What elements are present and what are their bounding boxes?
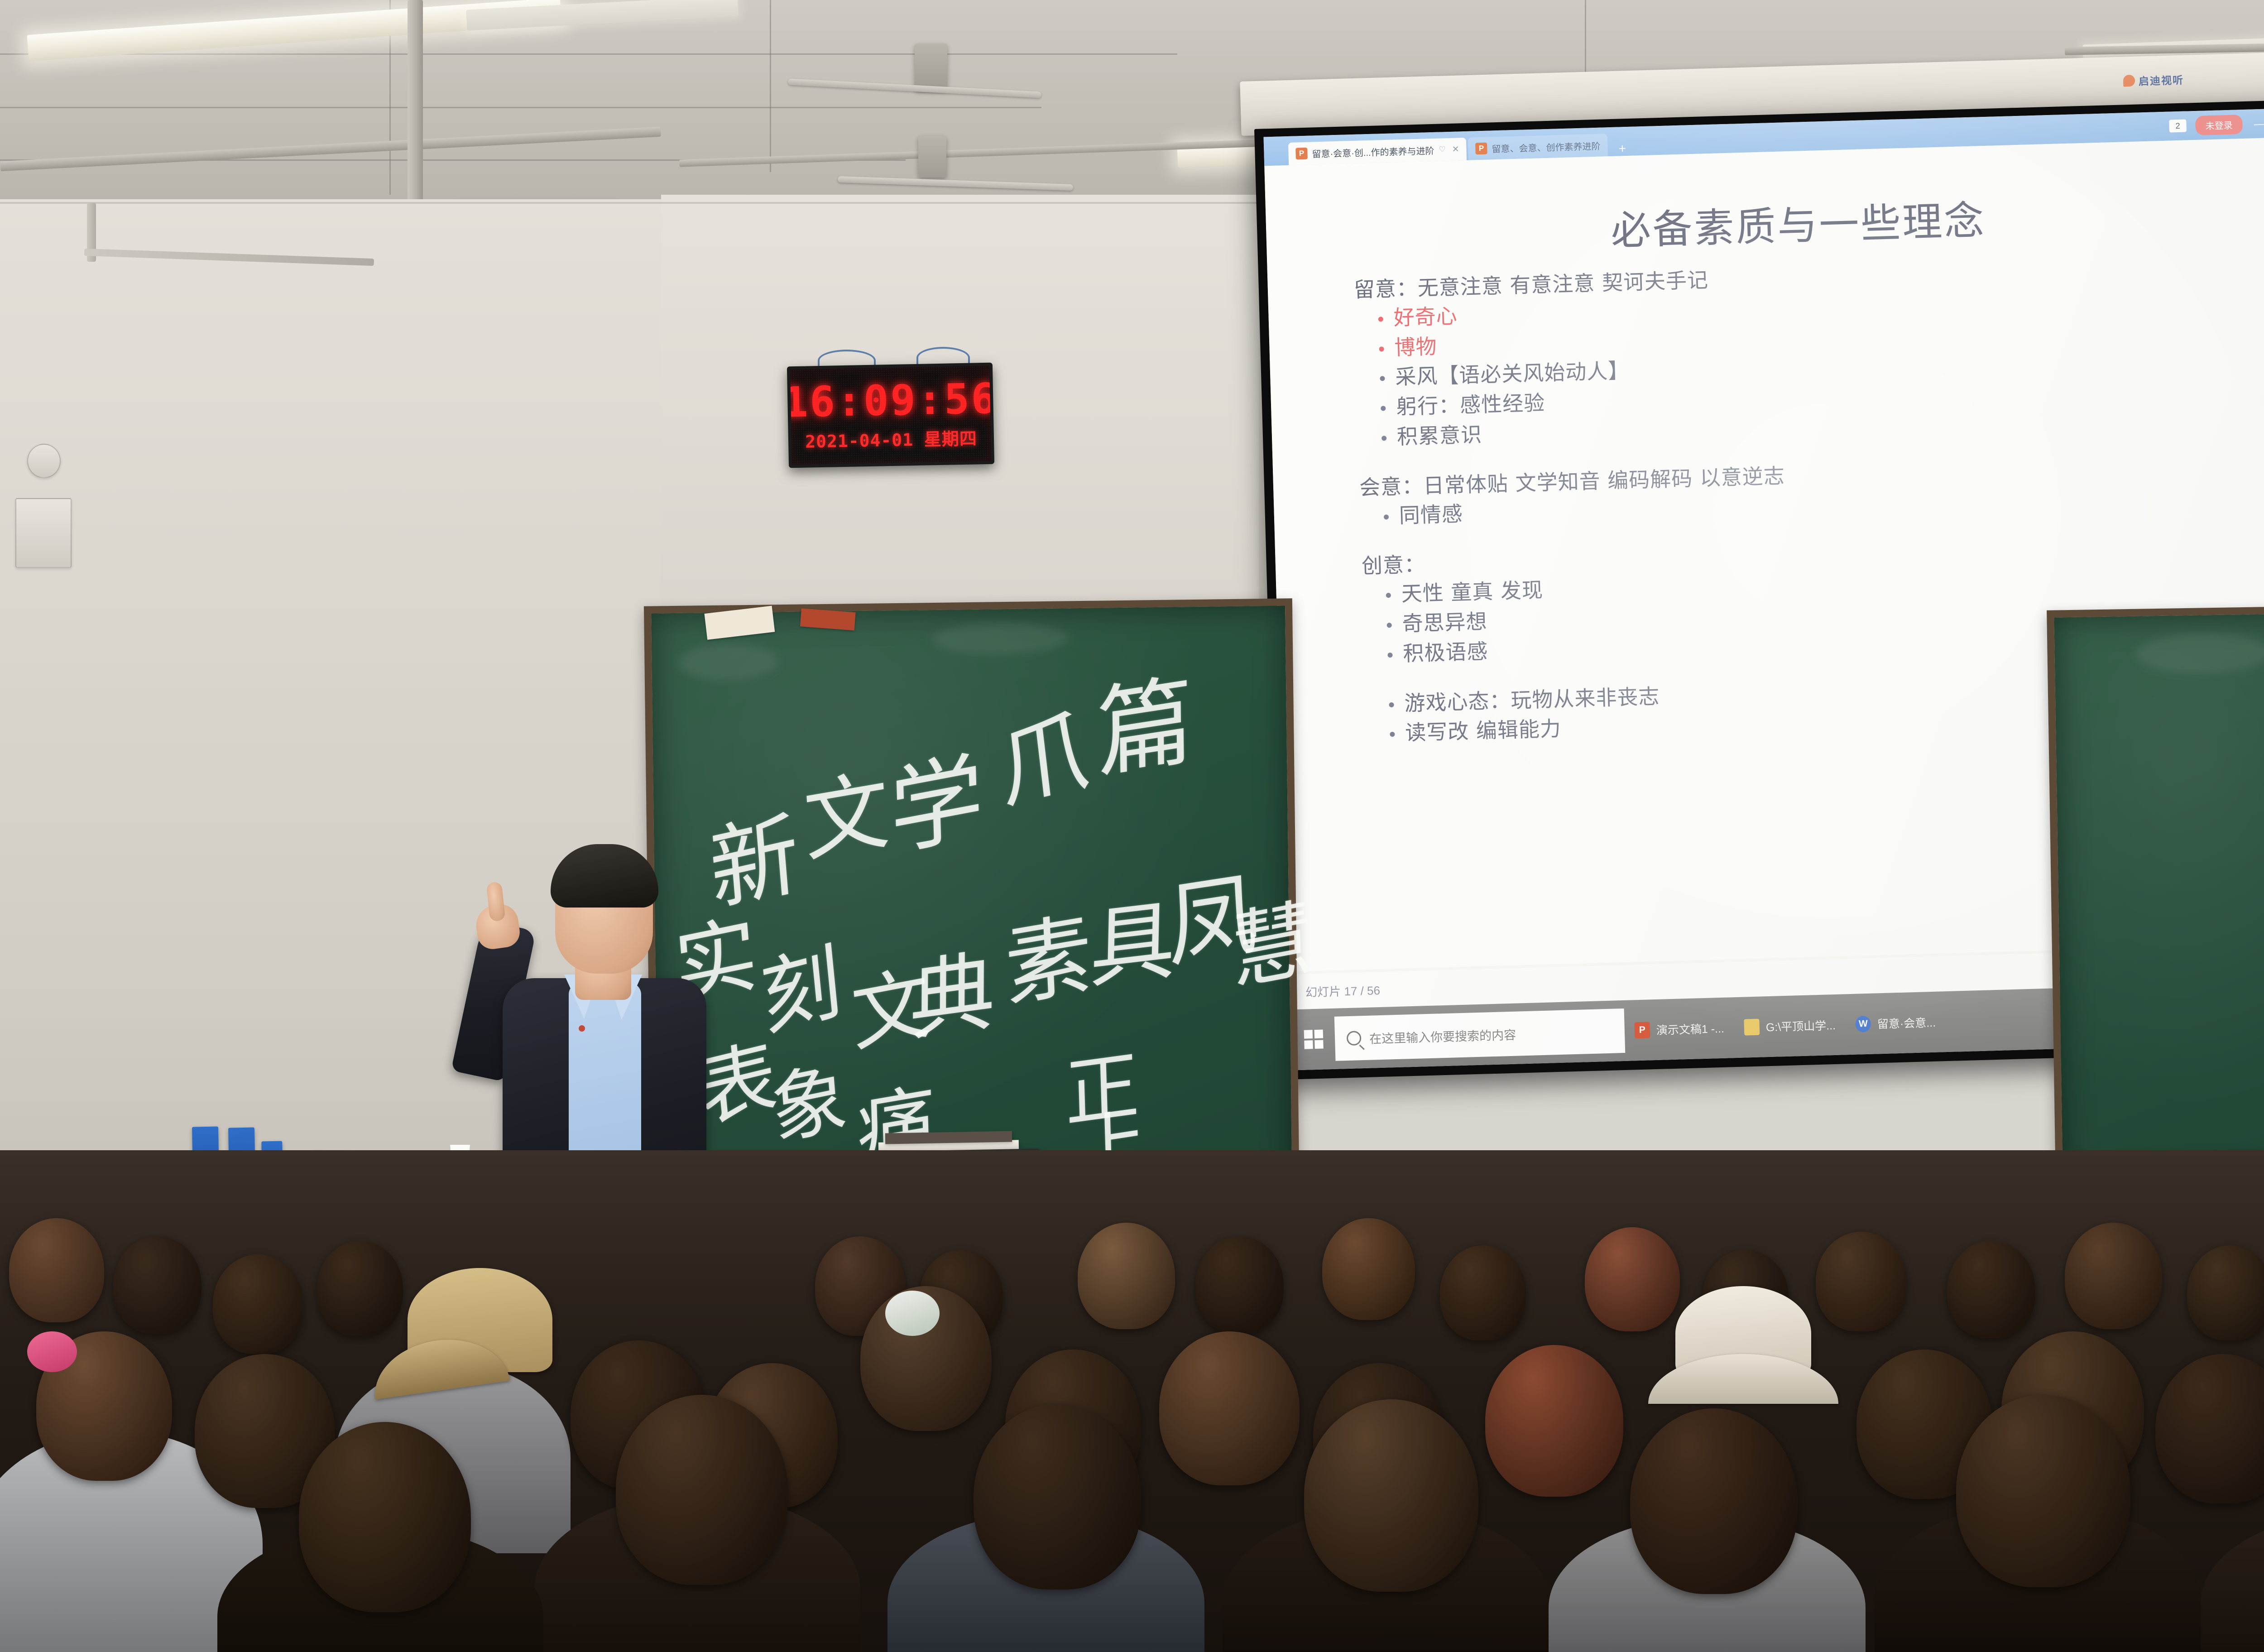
new-tab-button[interactable]: + xyxy=(1609,141,1635,157)
chalk-char: 篇 xyxy=(1096,640,1194,797)
audience-head xyxy=(1585,1227,1680,1331)
tab-label: 留意·会意·创...作的素养与进阶 xyxy=(1312,143,1434,160)
chalkboard-right xyxy=(2047,603,2264,1186)
slide-title: 必备素质与一些理念 xyxy=(1610,188,1986,256)
audience-head xyxy=(1159,1331,1300,1485)
powerpoint-icon: P xyxy=(1634,1022,1650,1038)
led-wall-clock: 16:09:56 2021-04-01 星期四 xyxy=(787,363,994,468)
taskbar-search-input[interactable]: 在这里输入你要搜索的内容 xyxy=(1334,1008,1625,1061)
brand-mark-icon xyxy=(2123,75,2135,87)
ceiling-tile-line xyxy=(0,53,1177,55)
audience-head xyxy=(1630,1408,1798,1594)
chalk-char: 典 xyxy=(909,920,995,1057)
ceiling-support-pole xyxy=(408,0,423,213)
audience-head xyxy=(299,1422,471,1612)
windows-start-icon[interactable] xyxy=(1304,1030,1324,1049)
chalk-char: 正 xyxy=(1063,1024,1141,1143)
screen-brand-logo: 启迪视听 xyxy=(2123,72,2184,89)
audience-head xyxy=(1485,1345,1623,1497)
audience-head xyxy=(1947,1241,2035,1338)
audience-head xyxy=(974,1404,1141,1590)
chalk-char: 象 xyxy=(767,1034,851,1161)
chalk-char: 刻 xyxy=(755,913,846,1053)
slide-counter: 幻灯片 17 / 56 xyxy=(1305,981,1381,1000)
wall-sensor xyxy=(27,444,61,478)
taskbar-item[interactable]: G:\平顶山学... xyxy=(1733,994,1847,1058)
board-taped-paper xyxy=(800,608,856,630)
audience-head xyxy=(1440,1245,1526,1340)
chalk-char: 素 xyxy=(1002,882,1095,1025)
wall-seam xyxy=(0,202,1268,204)
clock-date: 2021-04-01 星期四 xyxy=(805,424,978,452)
taskbar-item[interactable]: W 留意·会意... xyxy=(1845,991,1947,1055)
audience-head xyxy=(1816,1232,1906,1331)
clock-time: 16:09:56 xyxy=(787,378,994,423)
audience xyxy=(0,1150,2264,1652)
tab-inactive[interactable]: P 留意、会意、创作素养进阶 xyxy=(1468,134,1608,160)
audience-head xyxy=(1322,1218,1415,1320)
window-controls: 2 未登录 — ▢ ✕ xyxy=(2169,112,2264,136)
hair-scrunchie xyxy=(885,1291,940,1336)
board-taped-paper xyxy=(705,606,775,640)
chalk-char: 凤 xyxy=(1164,840,1260,985)
powerpoint-icon: P xyxy=(1475,143,1487,155)
audience-head xyxy=(1956,1395,2130,1587)
taskbar-item-label: 留意·会意... xyxy=(1877,1014,1936,1032)
ceiling-fan-mount xyxy=(918,136,946,178)
wps-icon: W xyxy=(1855,1016,1871,1032)
heart-icon[interactable]: ♡ xyxy=(1439,145,1446,154)
brand-text: 启迪视听 xyxy=(2139,72,2184,88)
login-status-button[interactable]: 未登录 xyxy=(2195,115,2243,135)
audience-head xyxy=(1304,1399,1478,1592)
chalk-smudge xyxy=(2136,632,2264,675)
audience-head xyxy=(1078,1223,1175,1329)
lapel-microphone xyxy=(579,1025,585,1032)
minimize-icon[interactable]: — xyxy=(2251,117,2264,130)
audience-head xyxy=(2187,1245,2264,1340)
chalk-char: 学 xyxy=(887,718,985,875)
classroom-photo: 16:09:56 2021-04-01 星期四 启迪视听 P 留意·会意·创..… xyxy=(0,0,2264,1652)
audience-head xyxy=(9,1218,104,1322)
search-icon xyxy=(1347,1031,1362,1046)
book-on-table xyxy=(885,1131,1012,1144)
notification-badge[interactable]: 2 xyxy=(2169,120,2187,133)
chalk-char: 爪 xyxy=(991,675,1094,828)
audience-head xyxy=(2065,1223,2162,1329)
ceiling-tile-line xyxy=(0,107,1041,108)
audience-head xyxy=(1195,1236,1284,1334)
chalk-smudge xyxy=(932,622,1068,655)
hair-scrunchie xyxy=(27,1331,77,1372)
chalk-char: 文 xyxy=(800,740,892,879)
audience-head xyxy=(213,1254,303,1354)
wall-outlet-plate xyxy=(15,498,72,568)
chalk-char: 具 xyxy=(1089,869,1177,1005)
powerpoint-icon: P xyxy=(1295,148,1308,160)
taskbar-item-label: 演示文稿1 -... xyxy=(1656,1020,1724,1038)
audience-head xyxy=(616,1395,788,1585)
audience-head xyxy=(317,1241,403,1336)
lecturer-hair xyxy=(551,844,658,908)
audience-head xyxy=(113,1236,201,1334)
chalk-char: 文 xyxy=(847,938,934,1068)
search-placeholder: 在这里输入你要搜索的内容 xyxy=(1369,1025,1516,1047)
chalk-smudge xyxy=(679,644,779,681)
tab-label: 留意、会意、创作素养进阶 xyxy=(1492,139,1601,155)
ceiling-fan-mount xyxy=(915,43,947,91)
taskbar-item-label: G:\平顶山学... xyxy=(1765,1017,1836,1035)
close-icon[interactable]: ✕ xyxy=(1452,144,1459,154)
taskbar-item[interactable]: P 演示文稿1 -... xyxy=(1624,997,1735,1061)
ceiling-tile-line xyxy=(770,0,771,172)
folder-icon xyxy=(1744,1019,1760,1036)
